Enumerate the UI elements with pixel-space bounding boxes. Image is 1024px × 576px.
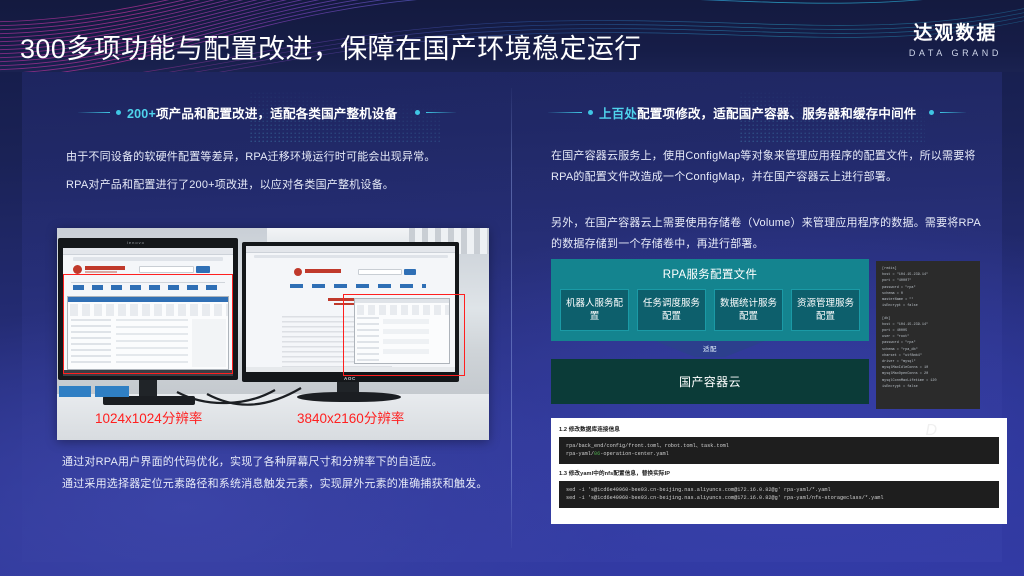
doc-section-12-title: 1.2 修改数据库连接信息 bbox=[559, 425, 999, 433]
gov-search-box-left bbox=[139, 266, 194, 273]
photo-blue-label-1 bbox=[59, 386, 91, 397]
header-dot-right bbox=[588, 110, 593, 115]
doc-sed-line-2: sed -i 's@1cd6e49960-bee93.cn-beijing.na… bbox=[566, 494, 992, 502]
gov-search-button-left bbox=[196, 266, 210, 273]
diagram-service-boxes: 机器人服务配置 任务调度服务配置 数据统计服务配置 资源管理服务配置 bbox=[560, 289, 860, 331]
diagram-arrow-label: 适配 bbox=[703, 343, 717, 353]
config-file-card: [redis] host = "104.15.239.14" port = "4… bbox=[876, 261, 980, 409]
right-section-header: 上百处配置项修改，适配国产容器、服务器和缓存中间件 bbox=[548, 103, 966, 122]
header-rule-left bbox=[78, 112, 110, 113]
diagram-arrow-region: 适配 bbox=[551, 341, 869, 359]
doc-section-13-title: 1.3 修改yaml中的nfs配置信息，替换实际IP bbox=[559, 469, 999, 477]
gov-site-subtitle-left bbox=[85, 271, 117, 273]
photo-blue-label-2 bbox=[95, 386, 129, 397]
gov-site-emblem-right bbox=[294, 268, 302, 276]
right-paragraph-1: 在国产容器云服务上，使用ConfigMap等对象来管理应用程序的配置文件，所以需… bbox=[551, 146, 991, 188]
doc-sed-line-1: sed -i 's@1cd6e49960-bee93.cn-beijing.na… bbox=[566, 486, 992, 494]
resolution-label-left: 1024x1024分辨率 bbox=[95, 412, 217, 426]
doc-code-line-2: rpa-yaml/06-operation-center.yaml bbox=[566, 450, 992, 458]
left-heading-rest: 项产品和配置改进，适配各类国产整机设备 bbox=[156, 107, 397, 121]
doc-section-12-code: rpa/back_end/config/front.toml、robot.tom… bbox=[559, 437, 999, 464]
gov-site-title-right bbox=[305, 269, 341, 273]
diagram-box-data-stats: 数据统计服务配置 bbox=[714, 289, 783, 331]
diagram-box-resource-mgmt: 资源管理服务配置 bbox=[791, 289, 860, 331]
rpa-config-diagram: RPA服务配置文件 机器人服务配置 任务调度服务配置 数据统计服务配置 资源管理… bbox=[551, 259, 869, 404]
left-paragraph-2: RPA对产品和配置进行了200+项改进，以应对各类国产整机设备。 bbox=[66, 175, 486, 196]
doc-code-line-2-suffix: -operation-center.yaml bbox=[600, 451, 669, 457]
right-heading-highlight: 上百处 bbox=[599, 107, 637, 121]
doc-code-line-1: rpa/back_end/config/front.toml、robot.tom… bbox=[566, 442, 992, 450]
right-section-title: 上百处配置项修改，适配国产容器、服务器和缓存中间件 bbox=[599, 103, 917, 122]
gov-site-emblem-left bbox=[73, 265, 82, 274]
config-file-text: [redis] host = "104.15.239.14" port = "4… bbox=[882, 266, 974, 390]
left-footnote-2: 通过采用选择器定位元素路径和系统消息触发元素，实现屏外元素的准确捕获和触发。 bbox=[62, 474, 512, 495]
doc-code-line-2-prefix: rpa-yaml/ bbox=[566, 451, 594, 457]
left-section-title: 200+项产品和配置改进，适配各类国产整机设备 bbox=[127, 103, 397, 122]
brand-logo-en: DATA GRAND bbox=[909, 48, 1002, 58]
header-dot-right-end bbox=[929, 110, 934, 115]
dual-monitor-photo: lenovo bbox=[57, 228, 489, 440]
gov-nav-items-right bbox=[290, 284, 426, 288]
doc-section-13-code: sed -i 's@1cd6e49960-bee93.cn-beijing.na… bbox=[559, 481, 999, 508]
diagram-top-group: RPA服务配置文件 机器人服务配置 任务调度服务配置 数据统计服务配置 资源管理… bbox=[551, 259, 869, 341]
header-rule-right bbox=[548, 112, 582, 113]
gov-search-box-right bbox=[358, 269, 402, 275]
header-rule-left-end bbox=[426, 112, 456, 113]
right-heading-rest: 配置项修改，适配国产容器、服务器和缓存中间件 bbox=[637, 107, 916, 121]
left-heading-highlight: 200+ bbox=[127, 107, 156, 121]
red-annotation-box-right bbox=[343, 294, 465, 376]
brand-logo-cn: 达观数据 bbox=[909, 24, 1002, 45]
deployment-doc-card: D 1.2 修改数据库连接信息 rpa/back_end/config/fron… bbox=[551, 418, 1007, 524]
gov-search-button-right bbox=[404, 269, 416, 275]
red-annotation-box-left bbox=[63, 274, 233, 374]
slide-title: 300多项功能与配置改进，保障在国产环境稳定运行 bbox=[20, 27, 642, 66]
monitor-left-brand: lenovo bbox=[127, 240, 145, 245]
left-paragraph-1: 由于不同设备的软硬件配置等差异，RPA迁移环境运行时可能会出现异常。 bbox=[66, 147, 486, 168]
browser-addressbar-right bbox=[254, 255, 448, 258]
right-paragraph-2: 另外，在国产容器云上需要使用存储卷（Volume）来管理应用程序的数据。需要将R… bbox=[551, 213, 991, 255]
left-footnote-1: 通过对RPA用户界面的代码优化，实现了各种屏幕尺寸和分辨率下的自适应。 bbox=[62, 452, 502, 473]
browser-addressbar-left bbox=[73, 257, 223, 261]
slide-root: 300多项功能与配置改进，保障在国产环境稳定运行 达观数据 DATA GRAND… bbox=[0, 0, 1024, 576]
browser-chrome-left bbox=[63, 248, 233, 255]
diagram-box-task-scheduler: 任务调度服务配置 bbox=[637, 289, 706, 331]
diagram-top-title: RPA服务配置文件 bbox=[560, 266, 860, 282]
header-dot-left bbox=[116, 110, 121, 115]
header-rule-right-end bbox=[940, 112, 966, 113]
brand-logo: 达观数据 DATA GRAND bbox=[909, 24, 1002, 58]
browser-chrome-right bbox=[246, 246, 455, 253]
diagram-box-robot-service: 机器人服务配置 bbox=[560, 289, 629, 331]
gov-site-title-left bbox=[85, 266, 125, 270]
diagram-bottom-title: 国产容器云 bbox=[551, 359, 869, 404]
header-dot-left-end bbox=[415, 110, 420, 115]
left-section-header: 200+项产品和配置改进，适配各类国产整机设备 bbox=[78, 103, 456, 122]
resolution-label-right: 3840x2160分辨率 bbox=[297, 412, 427, 426]
